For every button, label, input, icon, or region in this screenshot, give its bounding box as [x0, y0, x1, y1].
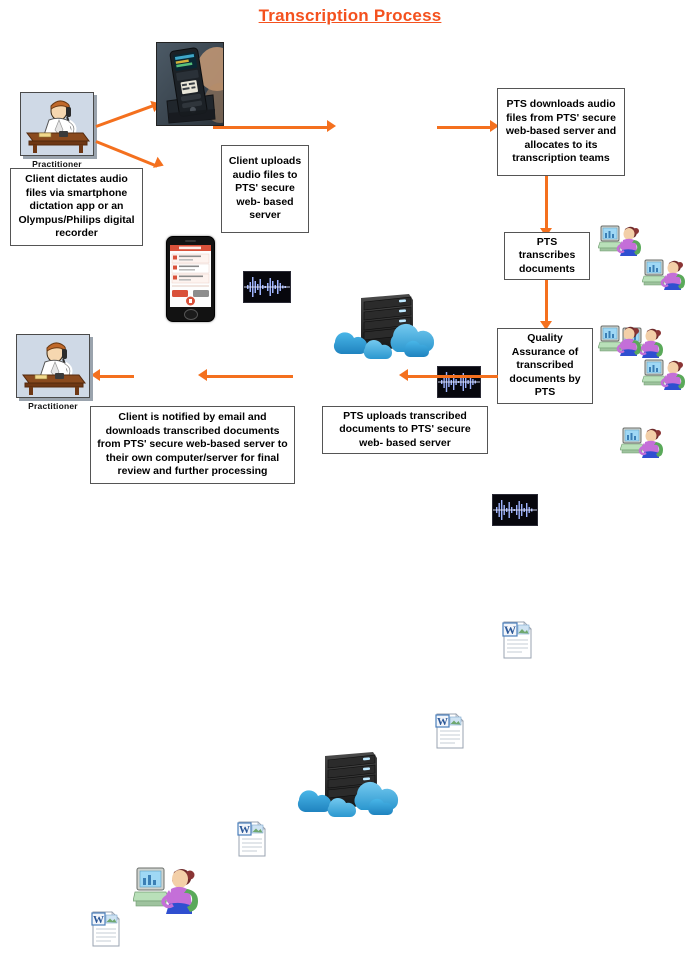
- arrow-cloud-to-client-computer: [207, 375, 293, 378]
- transcriptionist-at-computer-icon: [598, 322, 642, 356]
- word-document-icon-4: W: [90, 910, 124, 948]
- practitioner-bottom-label: Practitioner: [14, 401, 92, 411]
- arrow-uploads-to-cloud: [213, 126, 329, 129]
- arrow-to-practitioner-bottom: [100, 375, 134, 378]
- transcription-team-group-1: [598, 222, 694, 294]
- arrow-qa-to-cloud: [408, 375, 498, 378]
- practitioner-at-desk-icon: [16, 334, 90, 398]
- smartphone-dictation-app-icon: [166, 236, 215, 322]
- cloud-server-icon-top: [331, 290, 439, 362]
- box-client-uploads: Client uploads audio files to PTS' secur…: [221, 145, 309, 233]
- arrowhead-uploads-to-cloud: [327, 120, 336, 132]
- arrow-cloud-to-downloads: [437, 126, 492, 129]
- box-pts-downloads: PTS downloads audio files from PTS' secu…: [497, 88, 625, 176]
- box-pts-uploads-transcribed: PTS uploads transcribed documents to PTS…: [322, 406, 488, 454]
- digital-dictation-recorder-icon: [156, 42, 224, 126]
- svg-text:W: W: [239, 824, 250, 836]
- arrowhead-to-practitioner-bottom: [91, 369, 100, 381]
- word-document-icon-1: W: [500, 620, 536, 660]
- transcriptionist-at-computer-icon: [642, 356, 686, 390]
- box-client-dictates: Client dictates audio files via smartpho…: [10, 168, 143, 246]
- arrow-practitioner-to-recorder: [95, 104, 154, 128]
- page-title: Transcription Process: [0, 6, 700, 26]
- word-document-icon-3: W: [236, 820, 270, 858]
- arrowhead-qa-to-cloud: [399, 369, 408, 381]
- diagram-canvas: Transcription Process: [0, 0, 700, 500]
- transcriptionist-at-computer-icon: [598, 222, 642, 256]
- box-pts-transcribes: PTS transcribes documents: [504, 232, 590, 280]
- arrow-downloads-to-transcribes: [545, 176, 548, 230]
- box-client-notified: Client is notified by email and download…: [90, 406, 295, 484]
- audio-waveform-icon-1: [243, 271, 291, 303]
- practitioner-at-desk-icon: [20, 92, 94, 156]
- svg-text:W: W: [504, 623, 516, 637]
- svg-text:W: W: [437, 716, 448, 728]
- practitioner-top-group: Practitioner: [18, 92, 96, 169]
- box-quality-assurance: Quality Assurance of transcribed documen…: [497, 328, 593, 404]
- cloud-server-icon-bottom: [295, 750, 403, 820]
- transcription-team-group-2: [598, 322, 694, 394]
- arrowhead-practitioner-to-phone: [153, 157, 166, 171]
- arrow-transcribes-to-quality: [545, 280, 548, 323]
- audio-waveform-icon-3: [492, 494, 538, 526]
- audio-waveform-icon-2: [437, 366, 481, 398]
- transcriptionist-at-computer-icon: [642, 256, 686, 290]
- practitioner-bottom-group: Practitioner: [14, 334, 92, 411]
- client-at-computer-icon: [133, 862, 199, 914]
- svg-text:W: W: [93, 914, 104, 926]
- word-document-icon-2: W: [434, 712, 468, 750]
- arrowhead-cloud-to-client-computer: [198, 369, 207, 381]
- arrow-practitioner-to-phone: [95, 140, 157, 168]
- transcriptionist-at-computer-icon: [620, 424, 664, 458]
